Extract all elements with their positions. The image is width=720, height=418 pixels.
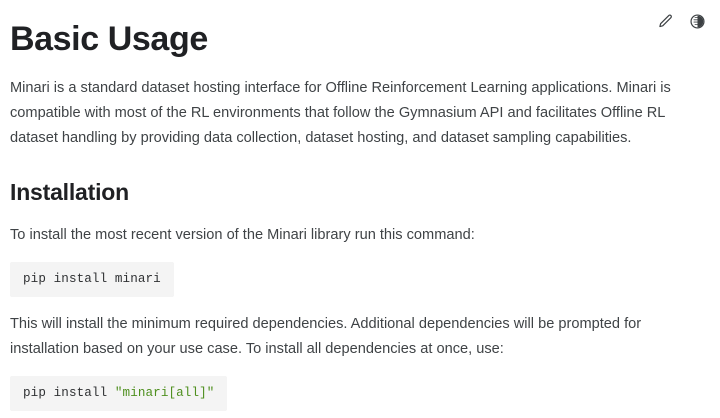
code-block-install-minari-all[interactable]: pip install "minari[all]": [10, 376, 227, 411]
code-block-wrapper-1: pip install minari: [10, 248, 710, 297]
code-string-literal: "minari[all]": [115, 386, 215, 400]
code-command-text: pip install: [23, 386, 115, 400]
documentation-page: Basic Usage Minari is a standard dataset…: [0, 0, 720, 418]
page-actions-toolbar: [656, 12, 706, 30]
code-block-install-minari[interactable]: pip install minari: [10, 262, 174, 297]
section-heading-installation: Installation: [10, 151, 710, 207]
edit-page-button[interactable]: [656, 12, 674, 30]
code-block-wrapper-2: pip install "minari[all]": [10, 362, 710, 411]
installation-paragraph-1: To install the most recent version of th…: [10, 207, 698, 248]
installation-paragraph-2: This will install the minimum required d…: [10, 297, 698, 362]
color-mode-toggle-button[interactable]: [688, 12, 706, 30]
pencil-icon: [657, 13, 674, 30]
page-title: Basic Usage: [10, 0, 710, 60]
contrast-circle-icon: [689, 13, 706, 30]
intro-paragraph: Minari is a standard dataset hosting int…: [10, 60, 698, 151]
